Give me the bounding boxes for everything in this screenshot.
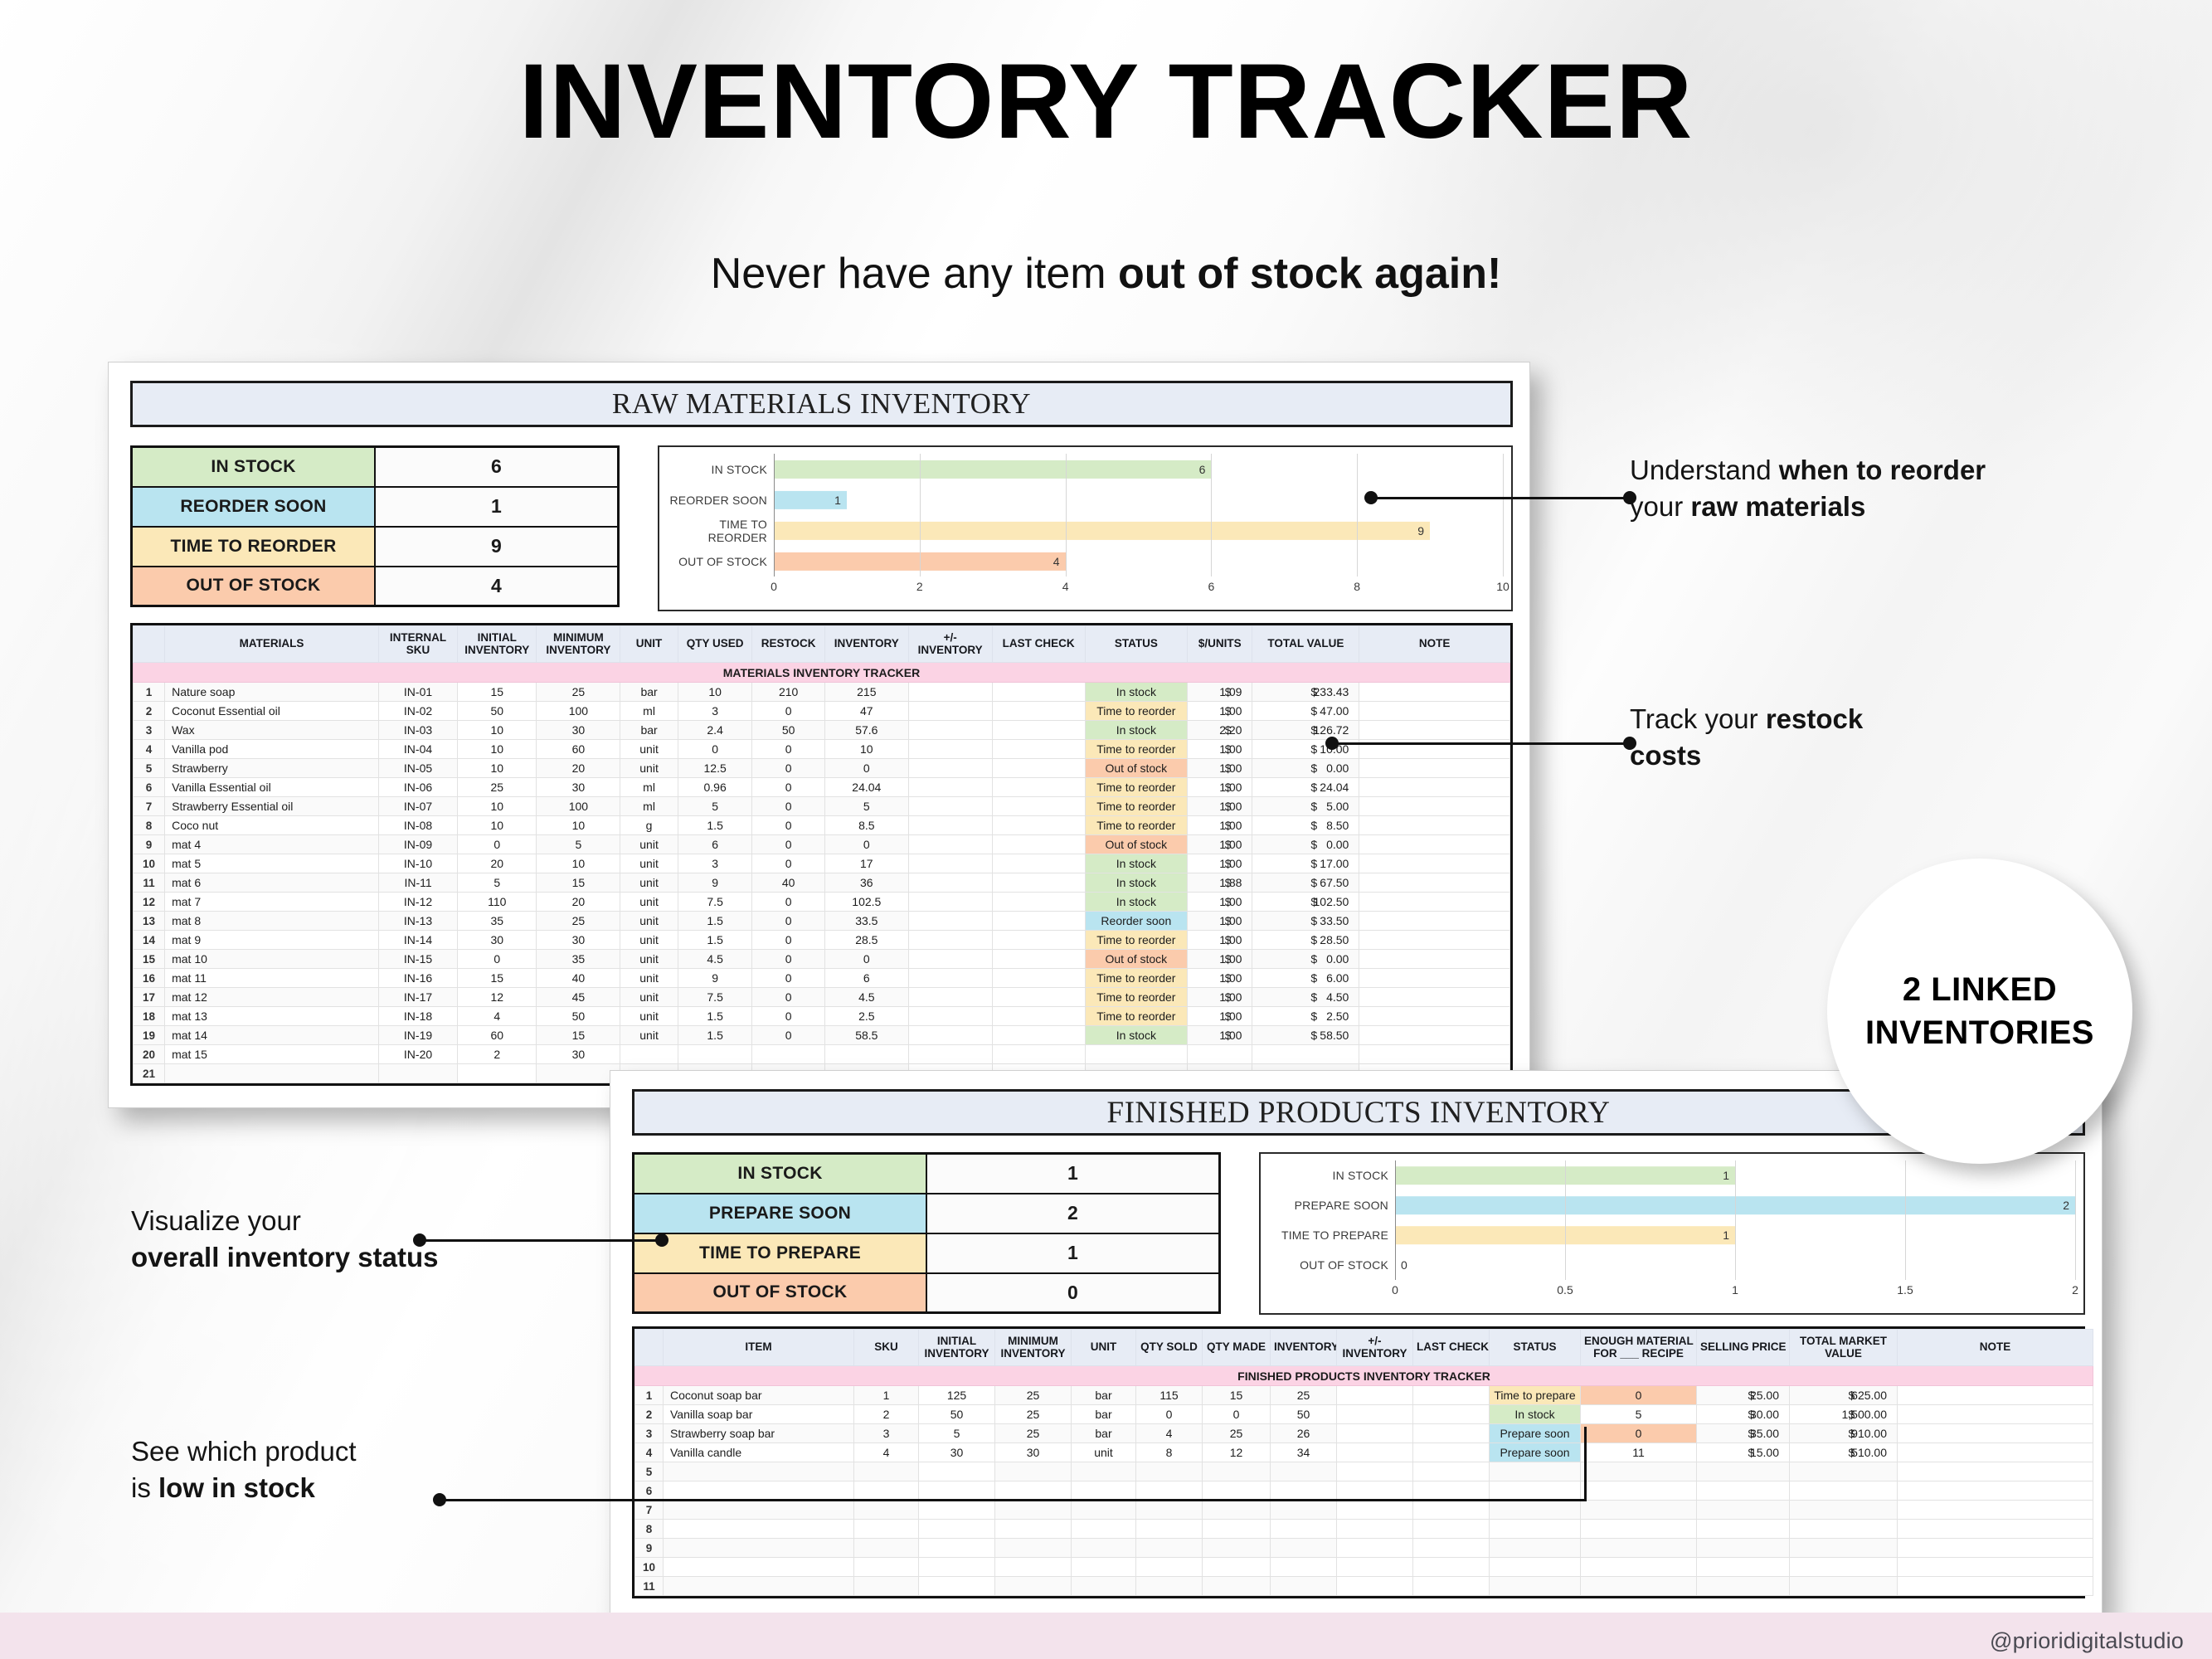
- cell-material[interactable]: mat 12: [165, 988, 379, 1007]
- cell-sku[interactable]: IN-06: [378, 778, 457, 797]
- cell-item[interactable]: Vanilla soap bar: [664, 1405, 854, 1424]
- cell-note[interactable]: [1359, 759, 1510, 778]
- cell-unit-price[interactable]: $1.00: [1187, 912, 1252, 931]
- cell-note[interactable]: [1898, 1424, 2093, 1443]
- cell-qty-made[interactable]: 0: [1203, 1405, 1271, 1424]
- cell-unit-price[interactable]: $1.00: [1187, 835, 1252, 854]
- cell-minimum-inventory[interactable]: 25: [995, 1405, 1072, 1424]
- cell-sku[interactable]: [854, 1558, 919, 1577]
- cell-item[interactable]: [664, 1539, 854, 1558]
- table-row[interactable]: 1Coconut soap bar112525bar1151525Time to…: [635, 1386, 2093, 1405]
- cell-selling-price[interactable]: [1697, 1501, 1790, 1520]
- cell-restock[interactable]: 50: [752, 721, 824, 740]
- cell-qty-used[interactable]: 0: [678, 740, 752, 759]
- cell-delta-inventory[interactable]: [1337, 1520, 1413, 1539]
- cell-material[interactable]: mat 5: [165, 854, 379, 873]
- cell-last-check[interactable]: [1413, 1424, 1490, 1443]
- cell-selling-price[interactable]: [1697, 1481, 1790, 1501]
- cell-minimum-inventory[interactable]: 25: [995, 1386, 1072, 1405]
- table-row[interactable]: 5StrawberryIN-051020unit12.500Out of sto…: [134, 759, 1510, 778]
- cell-note[interactable]: [1898, 1405, 2093, 1424]
- cell-minimum-inventory[interactable]: 15: [537, 1026, 620, 1045]
- cell-selling-price[interactable]: [1697, 1558, 1790, 1577]
- cell-unit[interactable]: bar: [620, 683, 678, 702]
- table-row[interactable]: 6Vanilla Essential oilIN-062530ml0.96024…: [134, 778, 1510, 797]
- cell-minimum-inventory[interactable]: 50: [537, 1007, 620, 1026]
- cell-qty-sold[interactable]: 8: [1136, 1443, 1203, 1462]
- cell-qty-sold[interactable]: [1136, 1539, 1203, 1558]
- cell-item[interactable]: Strawberry soap bar: [664, 1424, 854, 1443]
- cell-delta-inventory[interactable]: [908, 759, 992, 778]
- cell-qty-used[interactable]: 1.5: [678, 912, 752, 931]
- raw-materials-chart[interactable]: IN STOCK6REORDER SOON1TIME TO REORDER9OU…: [658, 445, 1513, 611]
- cell-qty-used[interactable]: 3: [678, 702, 752, 721]
- cell-unit[interactable]: unit: [620, 893, 678, 912]
- cell-material[interactable]: Strawberry: [165, 759, 379, 778]
- cell-qty-made[interactable]: 25: [1203, 1424, 1271, 1443]
- table-row[interactable]: 8: [635, 1520, 2093, 1539]
- cell-last-check[interactable]: [1413, 1558, 1490, 1577]
- table-row[interactable]: 1Nature soapIN-011525bar10210215In stock…: [134, 683, 1510, 702]
- cell-initial-inventory[interactable]: 0: [458, 950, 537, 969]
- cell-note[interactable]: [1359, 1026, 1510, 1045]
- cell-unit[interactable]: unit: [620, 1007, 678, 1026]
- cell-restock[interactable]: 0: [752, 816, 824, 835]
- cell-minimum-inventory[interactable]: 45: [537, 988, 620, 1007]
- cell-unit-price[interactable]: $1.00: [1187, 1007, 1252, 1026]
- cell-qty-used[interactable]: 6: [678, 835, 752, 854]
- cell-sku[interactable]: [854, 1539, 919, 1558]
- cell-sku[interactable]: IN-19: [378, 1026, 457, 1045]
- cell-unit-price[interactable]: [1187, 1045, 1252, 1064]
- cell-initial-inventory[interactable]: 10: [458, 816, 537, 835]
- cell-initial-inventory[interactable]: 0: [458, 835, 537, 854]
- cell-material[interactable]: mat 13: [165, 1007, 379, 1026]
- cell-qty-sold[interactable]: [1136, 1501, 1203, 1520]
- cell-unit[interactable]: [620, 1045, 678, 1064]
- cell-last-check[interactable]: [1413, 1539, 1490, 1558]
- cell-delta-inventory[interactable]: [908, 1045, 992, 1064]
- cell-item[interactable]: Vanilla candle: [664, 1443, 854, 1462]
- cell-unit[interactable]: bar: [1072, 1405, 1136, 1424]
- cell-unit[interactable]: bar: [620, 721, 678, 740]
- table-row[interactable]: 11mat 6IN-11515unit94036In stock$1.88$67…: [134, 873, 1510, 893]
- cell-qty-used[interactable]: 2.4: [678, 721, 752, 740]
- cell-qty-used[interactable]: 5: [678, 797, 752, 816]
- cell-qty-sold[interactable]: 115: [1136, 1386, 1203, 1405]
- cell-unit-price[interactable]: $1.00: [1187, 931, 1252, 950]
- cell-qty-used[interactable]: 12.5: [678, 759, 752, 778]
- cell-last-check[interactable]: [992, 740, 1085, 759]
- cell-note[interactable]: [1359, 816, 1510, 835]
- cell-delta-inventory[interactable]: [1337, 1481, 1413, 1501]
- cell-sku[interactable]: IN-02: [378, 702, 457, 721]
- cell-restock[interactable]: 0: [752, 988, 824, 1007]
- cell-last-check[interactable]: [992, 1007, 1085, 1026]
- cell-minimum-inventory[interactable]: 25: [537, 683, 620, 702]
- cell-minimum-inventory[interactable]: 100: [537, 797, 620, 816]
- cell-qty-made[interactable]: [1203, 1501, 1271, 1520]
- cell-qty-made[interactable]: 12: [1203, 1443, 1271, 1462]
- cell-item[interactable]: [664, 1481, 854, 1501]
- cell-item[interactable]: [664, 1558, 854, 1577]
- cell-note[interactable]: [1898, 1481, 2093, 1501]
- cell-qty-sold[interactable]: [1136, 1558, 1203, 1577]
- cell-qty-made[interactable]: [1203, 1558, 1271, 1577]
- cell-unit[interactable]: unit: [620, 835, 678, 854]
- cell-initial-inventory[interactable]: 25: [458, 778, 537, 797]
- cell-minimum-inventory[interactable]: 15: [537, 873, 620, 893]
- cell-initial-inventory[interactable]: 110: [458, 893, 537, 912]
- cell-material[interactable]: mat 10: [165, 950, 379, 969]
- cell-material[interactable]: [165, 1064, 379, 1083]
- cell-item[interactable]: [664, 1501, 854, 1520]
- cell-item[interactable]: [664, 1577, 854, 1596]
- cell-material[interactable]: mat 8: [165, 912, 379, 931]
- cell-initial-inventory[interactable]: 20: [458, 854, 537, 873]
- table-row[interactable]: 18mat 13IN-18450unit1.502.5Time to reord…: [134, 1007, 1510, 1026]
- table-row[interactable]: 4Vanilla candle43030unit81234Prepare soo…: [635, 1443, 2093, 1462]
- cell-last-check[interactable]: [1413, 1577, 1490, 1596]
- finished-products-panel[interactable]: FINISHED PRODUCTS INVENTORY IN STOCK1PRE…: [610, 1070, 2103, 1618]
- cell-sku[interactable]: [854, 1481, 919, 1501]
- cell-sku[interactable]: 3: [854, 1424, 919, 1443]
- cell-qty-used[interactable]: 1.5: [678, 816, 752, 835]
- cell-unit-price[interactable]: $1.00: [1187, 702, 1252, 721]
- cell-delta-inventory[interactable]: [908, 816, 992, 835]
- table-row[interactable]: 7: [635, 1501, 2093, 1520]
- table-row[interactable]: 8Coco nutIN-081010g1.508.5Time to reorde…: [134, 816, 1510, 835]
- finished-products-chart[interactable]: IN STOCK1PREPARE SOON2TIME TO PREPARE1OU…: [1259, 1152, 2085, 1315]
- table-row[interactable]: 11: [635, 1577, 2093, 1596]
- cell-note[interactable]: [1359, 778, 1510, 797]
- cell-qty-sold[interactable]: [1136, 1481, 1203, 1501]
- cell-note[interactable]: [1898, 1501, 2093, 1520]
- cell-delta-inventory[interactable]: [908, 912, 992, 931]
- cell-restock[interactable]: 0: [752, 969, 824, 988]
- cell-qty-used[interactable]: 7.5: [678, 988, 752, 1007]
- cell-restock[interactable]: 0: [752, 931, 824, 950]
- cell-delta-inventory[interactable]: [908, 988, 992, 1007]
- cell-minimum-inventory[interactable]: 100: [537, 702, 620, 721]
- table-row[interactable]: 2Coconut Essential oilIN-0250100ml3047Ti…: [134, 702, 1510, 721]
- cell-material[interactable]: mat 4: [165, 835, 379, 854]
- cell-unit[interactable]: [1072, 1558, 1136, 1577]
- cell-minimum-inventory[interactable]: 10: [537, 854, 620, 873]
- table-row[interactable]: 7Strawberry Essential oilIN-0710100ml505…: [134, 797, 1510, 816]
- cell-delta-inventory[interactable]: [1337, 1539, 1413, 1558]
- cell-qty-used[interactable]: 9: [678, 969, 752, 988]
- cell-qty-sold[interactable]: [1136, 1577, 1203, 1596]
- cell-unit[interactable]: unit: [620, 950, 678, 969]
- cell-note[interactable]: [1359, 988, 1510, 1007]
- cell-last-check[interactable]: [992, 873, 1085, 893]
- cell-sku[interactable]: [854, 1577, 919, 1596]
- cell-material[interactable]: Nature soap: [165, 683, 379, 702]
- cell-initial-inventory[interactable]: [919, 1539, 995, 1558]
- cell-restock[interactable]: 0: [752, 854, 824, 873]
- cell-material[interactable]: Strawberry Essential oil: [165, 797, 379, 816]
- cell-last-check[interactable]: [992, 969, 1085, 988]
- cell-delta-inventory[interactable]: [908, 702, 992, 721]
- cell-sku[interactable]: [854, 1462, 919, 1481]
- cell-delta-inventory[interactable]: [908, 740, 992, 759]
- cell-minimum-inventory[interactable]: 5: [537, 835, 620, 854]
- cell-delta-inventory[interactable]: [908, 721, 992, 740]
- cell-restock[interactable]: 0: [752, 740, 824, 759]
- cell-last-check[interactable]: [992, 931, 1085, 950]
- cell-unit-price[interactable]: $1.09: [1187, 683, 1252, 702]
- cell-last-check[interactable]: [992, 950, 1085, 969]
- cell-initial-inventory[interactable]: [919, 1501, 995, 1520]
- cell-note[interactable]: [1359, 912, 1510, 931]
- table-row[interactable]: 3WaxIN-031030bar2.45057.6In stock$2.20$1…: [134, 721, 1510, 740]
- table-row[interactable]: 10mat 5IN-102010unit3017In stock$1.00$17…: [134, 854, 1510, 873]
- cell-delta-inventory[interactable]: [1337, 1577, 1413, 1596]
- cell-material[interactable]: mat 11: [165, 969, 379, 988]
- cell-delta-inventory[interactable]: [908, 835, 992, 854]
- cell-last-check[interactable]: [1413, 1481, 1490, 1501]
- cell-minimum-inventory[interactable]: 20: [537, 893, 620, 912]
- cell-qty-sold[interactable]: 4: [1136, 1424, 1203, 1443]
- cell-unit[interactable]: ml: [620, 797, 678, 816]
- cell-minimum-inventory[interactable]: 20: [537, 759, 620, 778]
- cell-unit[interactable]: bar: [1072, 1386, 1136, 1405]
- cell-qty-made[interactable]: 15: [1203, 1386, 1271, 1405]
- cell-qty-made[interactable]: [1203, 1462, 1271, 1481]
- cell-qty-made[interactable]: [1203, 1577, 1271, 1596]
- table-row[interactable]: 15mat 10IN-15035unit4.500Out of stock$1.…: [134, 950, 1510, 969]
- cell-material[interactable]: mat 7: [165, 893, 379, 912]
- cell-restock[interactable]: 0: [752, 835, 824, 854]
- cell-sku[interactable]: IN-10: [378, 854, 457, 873]
- cell-last-check[interactable]: [1413, 1405, 1490, 1424]
- cell-minimum-inventory[interactable]: 30: [537, 721, 620, 740]
- cell-qty-made[interactable]: [1203, 1520, 1271, 1539]
- cell-unit[interactable]: [1072, 1481, 1136, 1501]
- cell-sku[interactable]: IN-09: [378, 835, 457, 854]
- cell-note[interactable]: [1898, 1577, 2093, 1596]
- cell-sku[interactable]: [378, 1064, 457, 1083]
- cell-last-check[interactable]: [1413, 1443, 1490, 1462]
- table-row[interactable]: 19mat 14IN-196015unit1.5058.5In stock$1.…: [134, 1026, 1510, 1045]
- cell-delta-inventory[interactable]: [1337, 1501, 1413, 1520]
- cell-note[interactable]: [1898, 1462, 2093, 1481]
- table-row[interactable]: 5: [635, 1462, 2093, 1481]
- cell-delta-inventory[interactable]: [1337, 1386, 1413, 1405]
- cell-sku[interactable]: 2: [854, 1405, 919, 1424]
- cell-delta-inventory[interactable]: [908, 969, 992, 988]
- cell-note[interactable]: [1898, 1443, 2093, 1462]
- cell-initial-inventory[interactable]: [458, 1064, 537, 1083]
- cell-qty-made[interactable]: [1203, 1481, 1271, 1501]
- cell-unit[interactable]: [1072, 1520, 1136, 1539]
- cell-minimum-inventory[interactable]: 40: [537, 969, 620, 988]
- cell-note[interactable]: [1359, 893, 1510, 912]
- table-row[interactable]: 9: [635, 1539, 2093, 1558]
- cell-last-check[interactable]: [992, 816, 1085, 835]
- cell-initial-inventory[interactable]: 5: [458, 873, 537, 893]
- cell-item[interactable]: [664, 1462, 854, 1481]
- cell-delta-inventory[interactable]: [908, 1007, 992, 1026]
- cell-unit[interactable]: [1072, 1577, 1136, 1596]
- cell-minimum-inventory[interactable]: 25: [995, 1424, 1072, 1443]
- cell-delta-inventory[interactable]: [1337, 1462, 1413, 1481]
- cell-sku[interactable]: IN-18: [378, 1007, 457, 1026]
- cell-item[interactable]: [664, 1520, 854, 1539]
- cell-last-check[interactable]: [1413, 1520, 1490, 1539]
- cell-minimum-inventory[interactable]: 60: [537, 740, 620, 759]
- cell-initial-inventory[interactable]: 12: [458, 988, 537, 1007]
- cell-selling-price[interactable]: [1697, 1520, 1790, 1539]
- cell-note[interactable]: [1359, 1007, 1510, 1026]
- cell-qty-made[interactable]: [1203, 1539, 1271, 1558]
- cell-sku[interactable]: IN-11: [378, 873, 457, 893]
- cell-material[interactable]: Vanilla Essential oil: [165, 778, 379, 797]
- cell-initial-inventory[interactable]: [919, 1577, 995, 1596]
- cell-last-check[interactable]: [992, 702, 1085, 721]
- cell-sku[interactable]: IN-08: [378, 816, 457, 835]
- cell-last-check[interactable]: [992, 778, 1085, 797]
- cell-sku[interactable]: IN-01: [378, 683, 457, 702]
- cell-note[interactable]: [1359, 683, 1510, 702]
- cell-initial-inventory[interactable]: [919, 1481, 995, 1501]
- cell-qty-used[interactable]: 1.5: [678, 931, 752, 950]
- cell-unit-price[interactable]: $1.00: [1187, 854, 1252, 873]
- cell-note[interactable]: [1359, 873, 1510, 893]
- cell-last-check[interactable]: [992, 912, 1085, 931]
- cell-minimum-inventory[interactable]: 25: [537, 912, 620, 931]
- cell-unit[interactable]: unit: [620, 912, 678, 931]
- cell-sku[interactable]: 1: [854, 1386, 919, 1405]
- cell-delta-inventory[interactable]: [908, 797, 992, 816]
- cell-restock[interactable]: 0: [752, 912, 824, 931]
- cell-selling-price[interactable]: [1697, 1577, 1790, 1596]
- cell-initial-inventory[interactable]: 60: [458, 1026, 537, 1045]
- cell-selling-price[interactable]: $25.00: [1697, 1386, 1790, 1405]
- cell-minimum-inventory[interactable]: [995, 1577, 1072, 1596]
- cell-restock[interactable]: 0: [752, 1007, 824, 1026]
- table-row[interactable]: 17mat 12IN-171245unit7.504.5Time to reor…: [134, 988, 1510, 1007]
- cell-initial-inventory[interactable]: 15: [458, 969, 537, 988]
- cell-note[interactable]: [1359, 931, 1510, 950]
- cell-unit[interactable]: unit: [620, 854, 678, 873]
- cell-qty-used[interactable]: [678, 1045, 752, 1064]
- cell-initial-inventory[interactable]: [919, 1558, 995, 1577]
- cell-note[interactable]: [1359, 835, 1510, 854]
- cell-delta-inventory[interactable]: [908, 854, 992, 873]
- cell-unit-price[interactable]: $2.20: [1187, 721, 1252, 740]
- cell-qty-sold[interactable]: [1136, 1520, 1203, 1539]
- cell-delta-inventory[interactable]: [908, 778, 992, 797]
- cell-last-check[interactable]: [992, 854, 1085, 873]
- cell-last-check[interactable]: [992, 1045, 1085, 1064]
- cell-unit[interactable]: unit: [620, 759, 678, 778]
- cell-last-check[interactable]: [1413, 1386, 1490, 1405]
- cell-initial-inventory[interactable]: 15: [458, 683, 537, 702]
- cell-unit-price[interactable]: $1.00: [1187, 740, 1252, 759]
- cell-last-check[interactable]: [1413, 1462, 1490, 1481]
- cell-initial-inventory[interactable]: 5: [919, 1424, 995, 1443]
- cell-initial-inventory[interactable]: [919, 1462, 995, 1481]
- cell-unit[interactable]: unit: [620, 931, 678, 950]
- cell-note[interactable]: [1359, 1045, 1510, 1064]
- cell-unit-price[interactable]: $1.00: [1187, 759, 1252, 778]
- cell-unit[interactable]: unit: [620, 988, 678, 1007]
- cell-last-check[interactable]: [992, 759, 1085, 778]
- cell-restock[interactable]: 0: [752, 1026, 824, 1045]
- cell-minimum-inventory[interactable]: [995, 1539, 1072, 1558]
- cell-sku[interactable]: IN-14: [378, 931, 457, 950]
- cell-material[interactable]: Coco nut: [165, 816, 379, 835]
- cell-minimum-inventory[interactable]: [995, 1520, 1072, 1539]
- cell-unit[interactable]: unit: [620, 1026, 678, 1045]
- cell-last-check[interactable]: [992, 835, 1085, 854]
- cell-last-check[interactable]: [1413, 1501, 1490, 1520]
- cell-unit-price[interactable]: $1.00: [1187, 893, 1252, 912]
- cell-minimum-inventory[interactable]: 30: [537, 1045, 620, 1064]
- cell-last-check[interactable]: [992, 988, 1085, 1007]
- cell-minimum-inventory[interactable]: 30: [995, 1443, 1072, 1462]
- cell-restock[interactable]: 0: [752, 759, 824, 778]
- cell-delta-inventory[interactable]: [1337, 1424, 1413, 1443]
- cell-minimum-inventory[interactable]: 30: [537, 931, 620, 950]
- cell-delta-inventory[interactable]: [1337, 1443, 1413, 1462]
- cell-sku[interactable]: [854, 1501, 919, 1520]
- cell-delta-inventory[interactable]: [1337, 1405, 1413, 1424]
- cell-initial-inventory[interactable]: 10: [458, 759, 537, 778]
- cell-item[interactable]: Coconut soap bar: [664, 1386, 854, 1405]
- cell-qty-used[interactable]: 7.5: [678, 893, 752, 912]
- cell-minimum-inventory[interactable]: [995, 1462, 1072, 1481]
- cell-initial-inventory[interactable]: 10: [458, 721, 537, 740]
- cell-last-check[interactable]: [992, 683, 1085, 702]
- cell-unit-price[interactable]: $1.00: [1187, 950, 1252, 969]
- cell-unit-price[interactable]: $1.00: [1187, 797, 1252, 816]
- cell-material[interactable]: mat 6: [165, 873, 379, 893]
- cell-sku[interactable]: IN-04: [378, 740, 457, 759]
- cell-unit[interactable]: g: [620, 816, 678, 835]
- cell-restock[interactable]: 0: [752, 950, 824, 969]
- cell-minimum-inventory[interactable]: [995, 1501, 1072, 1520]
- cell-sku[interactable]: [854, 1520, 919, 1539]
- cell-delta-inventory[interactable]: [908, 1026, 992, 1045]
- table-row[interactable]: 13mat 8IN-133525unit1.5033.5Reorder soon…: [134, 912, 1510, 931]
- cell-note[interactable]: [1359, 721, 1510, 740]
- cell-minimum-inventory[interactable]: 30: [537, 778, 620, 797]
- cell-restock[interactable]: 0: [752, 778, 824, 797]
- cell-last-check[interactable]: [992, 797, 1085, 816]
- cell-initial-inventory[interactable]: 30: [458, 931, 537, 950]
- table-row[interactable]: 16mat 11IN-161540unit906Time to reorder$…: [134, 969, 1510, 988]
- cell-restock[interactable]: 0: [752, 893, 824, 912]
- cell-initial-inventory[interactable]: 4: [458, 1007, 537, 1026]
- table-row[interactable]: 9mat 4IN-0905unit600Out of stock$1.00$0.…: [134, 835, 1510, 854]
- cell-sku[interactable]: IN-12: [378, 893, 457, 912]
- cell-material[interactable]: mat 14: [165, 1026, 379, 1045]
- table-row[interactable]: 4Vanilla podIN-041060unit0010Time to reo…: [134, 740, 1510, 759]
- cell-delta-inventory[interactable]: [908, 893, 992, 912]
- cell-unit-price[interactable]: $1.00: [1187, 778, 1252, 797]
- cell-note[interactable]: [1359, 969, 1510, 988]
- cell-minimum-inventory[interactable]: [537, 1064, 620, 1083]
- cell-note[interactable]: [1359, 950, 1510, 969]
- table-row[interactable]: 20mat 15IN-20230: [134, 1045, 1510, 1064]
- cell-last-check[interactable]: [992, 721, 1085, 740]
- cell-sku[interactable]: IN-03: [378, 721, 457, 740]
- cell-note[interactable]: [1359, 702, 1510, 721]
- cell-qty-used[interactable]: 4.5: [678, 950, 752, 969]
